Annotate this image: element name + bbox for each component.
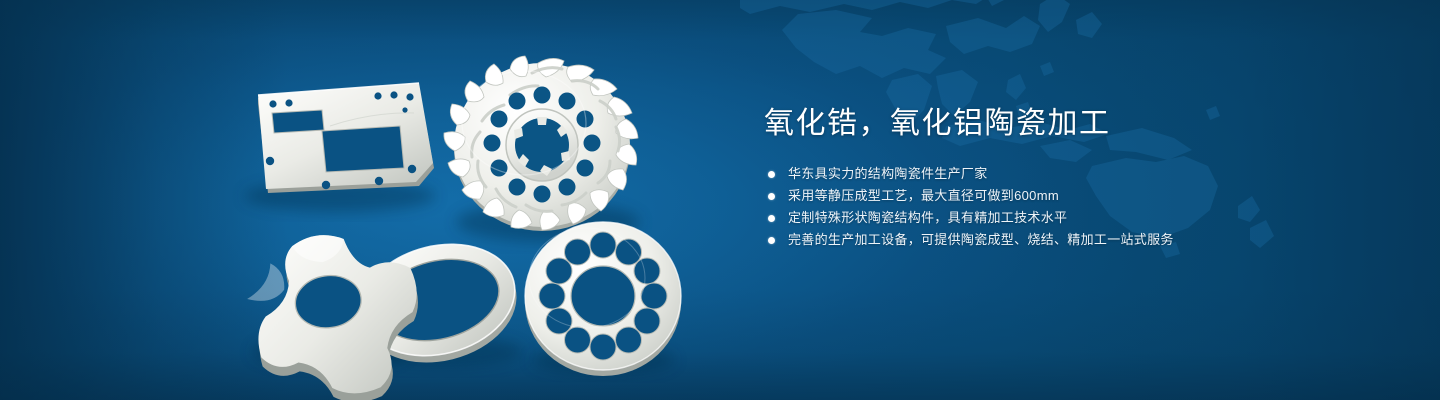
ceramic-plate-shape xyxy=(258,83,434,193)
bullet-dot-icon xyxy=(768,193,775,200)
ceramic-impeller-shape xyxy=(444,56,638,231)
feature-text-1: 华东具实力的结构陶瓷件生产厂家 xyxy=(788,166,988,182)
bullet-dot-icon xyxy=(768,171,775,178)
feature-item-4: 完善的生产加工设备，可提供陶瓷成型、烧结、精加工一站式服务 xyxy=(764,232,1384,248)
banner-headline: 氧化锆，氧化铝陶瓷加工 xyxy=(764,104,1384,144)
feature-item-1: 华东具实力的结构陶瓷件生产厂家 xyxy=(764,166,1384,182)
bullet-dot-icon xyxy=(768,237,775,244)
feature-text-3: 定制特殊形状陶瓷结构件，具有精加工技术水平 xyxy=(788,210,1067,226)
feature-item-3: 定制特殊形状陶瓷结构件，具有精加工技术水平 xyxy=(764,210,1384,226)
banner-copy: 氧化锆，氧化铝陶瓷加工 华东具实力的结构陶瓷件生产厂家 采用等静压成型工艺，最大… xyxy=(764,104,1384,254)
feature-text-2: 采用等静压成型工艺，最大直径可做到600mm xyxy=(788,188,1059,204)
feature-text-4: 完善的生产加工设备，可提供陶瓷成型、烧结、精加工一站式服务 xyxy=(788,232,1174,248)
ceramic-perforated-disc-shape xyxy=(525,222,681,376)
product-collage xyxy=(0,0,760,400)
ceramic-cross-shape xyxy=(240,223,431,400)
feature-item-2: 采用等静压成型工艺，最大直径可做到600mm xyxy=(764,188,1384,204)
bullet-dot-icon xyxy=(768,215,775,222)
feature-list: 华东具实力的结构陶瓷件生产厂家 采用等静压成型工艺，最大直径可做到600mm 定… xyxy=(764,166,1384,248)
hero-banner: 氧化锆，氧化铝陶瓷加工 华东具实力的结构陶瓷件生产厂家 采用等静压成型工艺，最大… xyxy=(0,0,1440,400)
